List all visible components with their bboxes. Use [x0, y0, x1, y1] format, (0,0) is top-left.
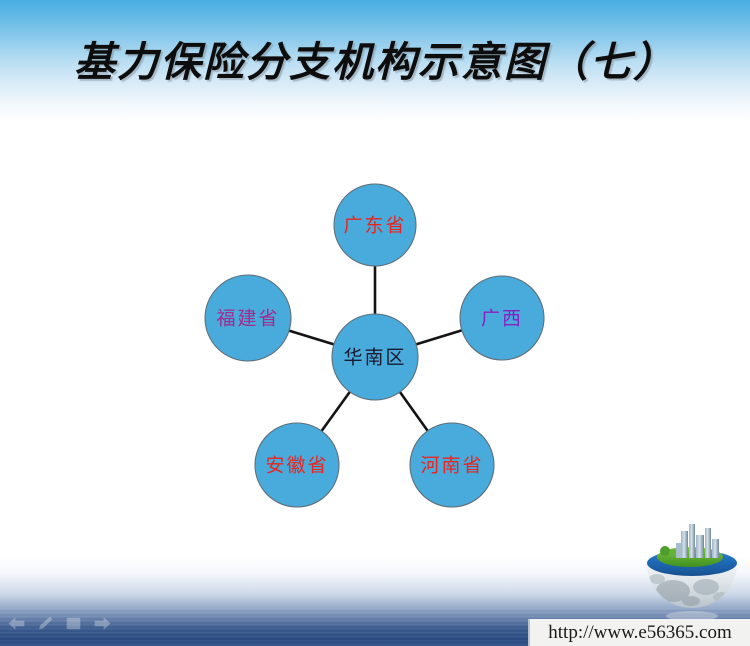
- diagram-node-fujian[interactable]: 福建省: [205, 275, 291, 361]
- node-label: 福建省: [216, 308, 279, 330]
- presentation-slide: 基力保险分支机构示意图（七） 广东省 广西: [0, 0, 750, 646]
- node-label: 广东省: [343, 215, 406, 237]
- node-label: 安徽省: [265, 455, 328, 477]
- tree-icon: [660, 546, 670, 556]
- tree-icon: [669, 549, 677, 557]
- next-arrow-icon[interactable]: [94, 617, 111, 630]
- previous-arrow-icon[interactable]: [8, 617, 25, 630]
- node-label: 广西: [481, 308, 523, 330]
- org-structure-diagram: 广东省 广西 河南省 安徽省 福建省: [0, 0, 750, 646]
- diagram-node-henan[interactable]: 河南省: [410, 423, 494, 507]
- diagram-node-guangdong[interactable]: 广东省: [334, 184, 416, 266]
- diagram-node-center[interactable]: 华南区: [332, 314, 418, 400]
- diagram-node-anhui[interactable]: 安徽省: [255, 423, 339, 507]
- node-label: 河南省: [420, 455, 483, 477]
- earth-city-graphic: [643, 521, 741, 623]
- city-buildings: [676, 524, 719, 558]
- menu-icon[interactable]: [66, 617, 81, 630]
- diagram-node-guangxi[interactable]: 广西: [460, 276, 544, 360]
- presentation-nav-controls[interactable]: [8, 616, 111, 630]
- node-label: 华南区: [343, 347, 406, 369]
- site-watermark: http://www.e56365.com: [528, 619, 750, 646]
- pen-icon[interactable]: [38, 616, 53, 630]
- watermark-url: http://www.e56365.com: [548, 622, 731, 644]
